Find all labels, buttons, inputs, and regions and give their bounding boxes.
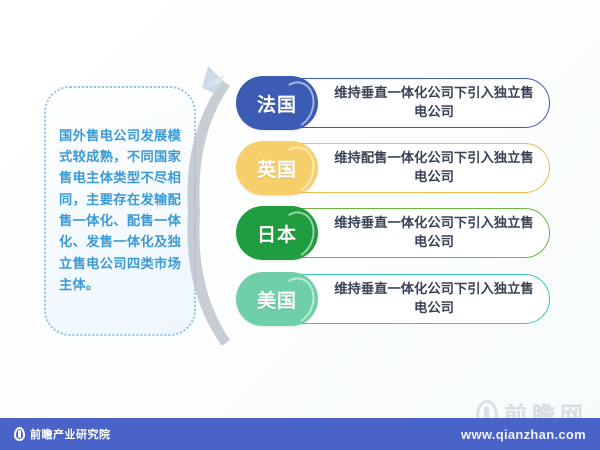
country-row-list: 法国 维持垂直一体化公司下引入独立售电公司 英国 维持配售一体化公司下引入独立售… bbox=[236, 76, 566, 350]
row-description: 维持垂直一体化公司下引入独立售电公司 bbox=[328, 272, 540, 326]
country-label: 英国 bbox=[257, 155, 297, 182]
footer-brand: 前瞻产业研究院 bbox=[14, 418, 111, 450]
table-row[interactable]: 美国 维持垂直一体化公司下引入独立售电公司 bbox=[236, 272, 562, 326]
country-label: 美国 bbox=[257, 286, 297, 313]
country-badge[interactable]: 日本 bbox=[236, 206, 318, 260]
footer-bar: 前瞻产业研究院 www.qianzhan.com bbox=[0, 418, 600, 450]
footer-url[interactable]: www.qianzhan.com bbox=[461, 427, 586, 442]
country-badge[interactable]: 法国 bbox=[236, 76, 318, 130]
footer-brand-label: 前瞻产业研究院 bbox=[30, 426, 111, 442]
summary-card: 国外售电公司发展模式较成熟，不同国家售电主体类型不尽相同，主要存在发输配售一体化… bbox=[44, 86, 196, 336]
summary-text: 国外售电公司发展模式较成熟，不同国家售电主体类型不尽相同，主要存在发输配售一体化… bbox=[59, 126, 181, 297]
qianzhan-logo-icon bbox=[14, 427, 25, 441]
infographic-canvas: 国外售电公司发展模式较成熟，不同国家售电主体类型不尽相同，主要存在发输配售一体化… bbox=[0, 0, 600, 450]
footer-url-wrap[interactable]: www.qianzhan.com bbox=[461, 418, 586, 450]
table-row[interactable]: 英国 维持配售一体化公司下引入独立售电公司 bbox=[236, 141, 562, 195]
table-row[interactable]: 日本 维持垂直一体化公司下引入独立售电公司 bbox=[236, 206, 562, 260]
row-description: 维持垂直一体化公司下引入独立售电公司 bbox=[328, 206, 540, 260]
country-label: 法国 bbox=[257, 90, 297, 117]
row-description: 维持配售一体化公司下引入独立售电公司 bbox=[328, 141, 540, 195]
row-description: 维持垂直一体化公司下引入独立售电公司 bbox=[328, 76, 540, 130]
country-label: 日本 bbox=[257, 220, 297, 247]
table-row[interactable]: 法国 维持垂直一体化公司下引入独立售电公司 bbox=[236, 76, 562, 130]
country-badge[interactable]: 美国 bbox=[236, 272, 318, 326]
country-badge[interactable]: 英国 bbox=[236, 141, 318, 195]
